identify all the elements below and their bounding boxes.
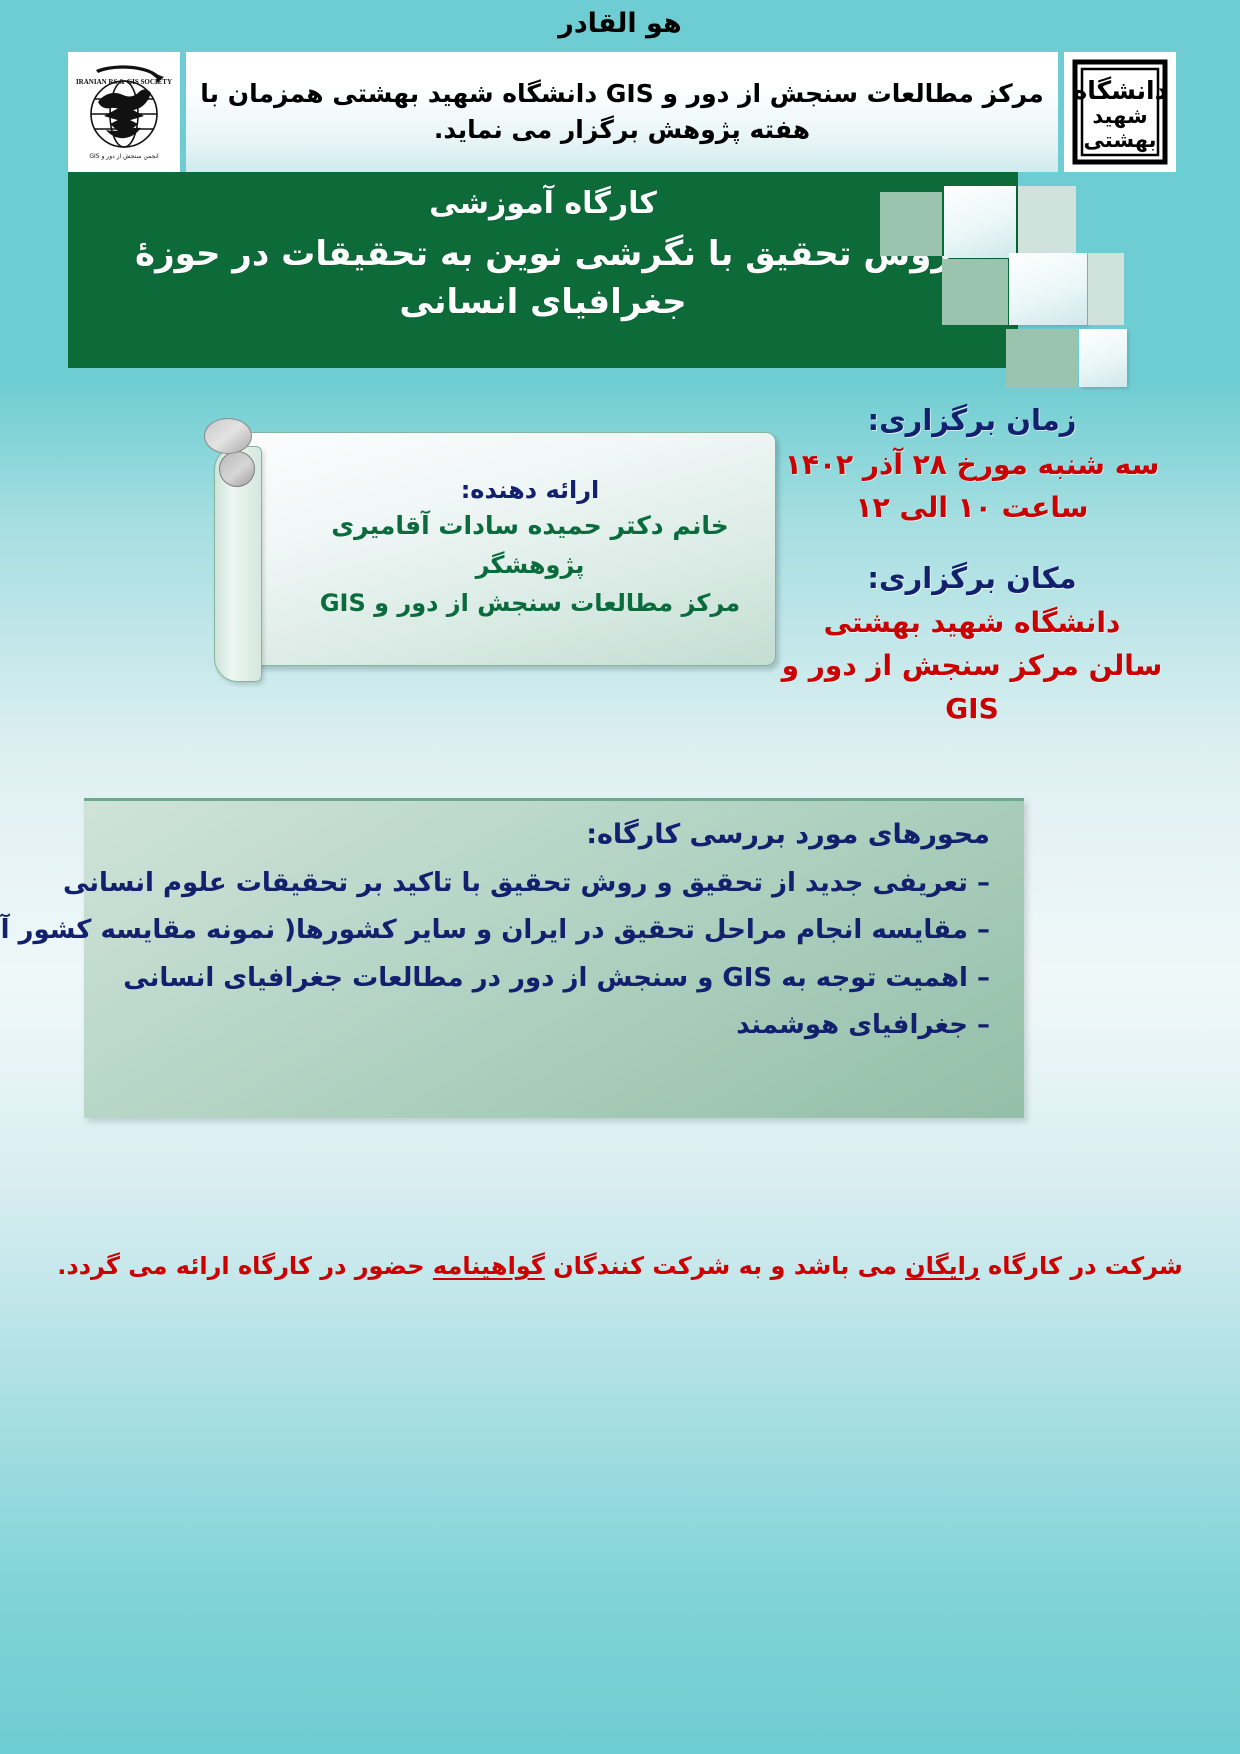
globe-icon: IRANIAN RS & GIS SOCIETY انجمن سنجش از د… — [74, 58, 174, 166]
topics-title: محورهای مورد بررسی کارگاه: — [114, 819, 990, 850]
schedule-block: زمان برگزاری: سه شنبه مورخ ۲۸ آذر ۱۴۰۲ س… — [772, 398, 1172, 731]
header-announcement: مرکز مطالعات سنجش از دور و GIS دانشگاه ش… — [186, 52, 1058, 172]
svg-text:شهید: شهید — [1092, 104, 1147, 128]
banner-kicker: کارگاه آموزشی — [110, 186, 976, 221]
scroll-cap-icon — [204, 418, 252, 454]
header-line-1: مرکز مطالعات سنجش از دور و GIS دانشگاه ش… — [200, 76, 1043, 112]
svg-text:IRANIAN RS & GIS SOCIETY: IRANIAN RS & GIS SOCIETY — [76, 78, 172, 86]
banner-title-line-2: جغرافیای انسانی — [110, 282, 976, 322]
workshop-title-banner: کارگاه آموزشی روش تحقیق با نگرشی نوین به… — [68, 172, 1018, 368]
decor-square-pale-1 — [944, 186, 1016, 258]
presenter-scroll: ارائه دهنده: خانم دکتر حمیده سادات آقامی… — [214, 432, 774, 680]
topics-box: محورهای مورد بررسی کارگاه: – تعریفی جدید… — [84, 798, 1024, 1118]
scroll-roll-edge — [214, 446, 262, 682]
event-date: سه شنبه مورخ ۲۸ آذر ۱۴۰۲ — [772, 443, 1172, 486]
venue-line-2: سالن مرکز سنجش از دور و GIS — [772, 644, 1172, 731]
topic-item: – مقایسه انجام مراحل تحقیق در ایران و سا… — [114, 907, 990, 954]
iranian-rs-gis-society-logo: IRANIAN RS & GIS SOCIETY انجمن سنجش از د… — [68, 52, 180, 172]
place-label: مکان برگزاری: — [772, 556, 1172, 601]
schedule-spacer — [772, 530, 1172, 556]
decor-square-sage-2 — [942, 259, 1008, 325]
scroll-knob-icon — [219, 451, 255, 487]
decor-square-pale-3 — [1079, 329, 1127, 387]
decor-square-sage-1 — [880, 192, 942, 256]
footer-note: شرکت در کارگاه رایگان می باشد و به شرکت … — [0, 1252, 1240, 1280]
presenter-role: پژوهشگر — [311, 546, 749, 584]
footer-part-3: حضور در کارگاه ارائه می گردد. — [57, 1252, 433, 1280]
presenter-name: خانم دکتر حمیده سادات آقامیری — [311, 506, 749, 546]
presenter-label: ارائه دهنده: — [311, 476, 749, 504]
decor-square-pale-2 — [1009, 253, 1087, 325]
venue-line-1: دانشگاه شهید بهشتی — [772, 601, 1172, 644]
event-hours: ساعت ۱۰ الی ۱۲ — [772, 486, 1172, 529]
topic-item: – جغرافیای هوشمند — [114, 1002, 990, 1049]
presenter-details: ارائه دهنده: خانم دکتر حمیده سادات آقامی… — [247, 433, 775, 665]
scroll-paper: ارائه دهنده: خانم دکتر حمیده سادات آقامی… — [246, 432, 776, 666]
footer-part-1: شرکت در کارگاه — [980, 1252, 1183, 1280]
presenter-organization: مرکز مطالعات سنجش از دور و GIS — [311, 584, 749, 622]
shahid-beheshti-university-logo: دانشگاه شهید بهشتی — [1064, 52, 1176, 172]
header-bar: IRANIAN RS & GIS SOCIETY انجمن سنجش از د… — [68, 52, 1176, 172]
svg-text:انجمن سنجش از دور و GIS: انجمن سنجش از دور و GIS — [89, 153, 159, 160]
footer-highlight-free: رایگان — [905, 1252, 980, 1280]
banner-title-line-1: روش تحقیق با نگرشی نوین به تحقیقات در حو… — [110, 234, 976, 274]
topic-item: – تعریفی جدید از تحقیق و روش تحقیق با تا… — [114, 860, 990, 907]
poster-canvas: هو القادر IRANIAN RS & GIS SOCIETY انجمن… — [0, 0, 1240, 1754]
time-label: زمان برگزاری: — [772, 398, 1172, 443]
header-line-2: هفته پژوهش برگزار می نماید. — [434, 112, 810, 148]
footer-part-2: می باشد و به شرکت کنندگان — [545, 1252, 905, 1280]
decor-square-sage-3 — [1006, 329, 1078, 387]
topic-item: – اهمیت توجه به GIS و سنجش از دور در مطا… — [114, 955, 990, 1002]
svg-text:دانشگاه: دانشگاه — [1073, 76, 1168, 105]
university-seal-icon: دانشگاه شهید بهشتی — [1072, 59, 1168, 165]
decor-square-mint-2 — [1088, 253, 1124, 325]
svg-text:بهشتی: بهشتی — [1084, 128, 1157, 152]
invocation-text: هو القادر — [0, 8, 1240, 39]
decor-square-mint-1 — [1018, 186, 1076, 258]
footer-highlight-certificate: گواهینامه — [433, 1252, 545, 1280]
